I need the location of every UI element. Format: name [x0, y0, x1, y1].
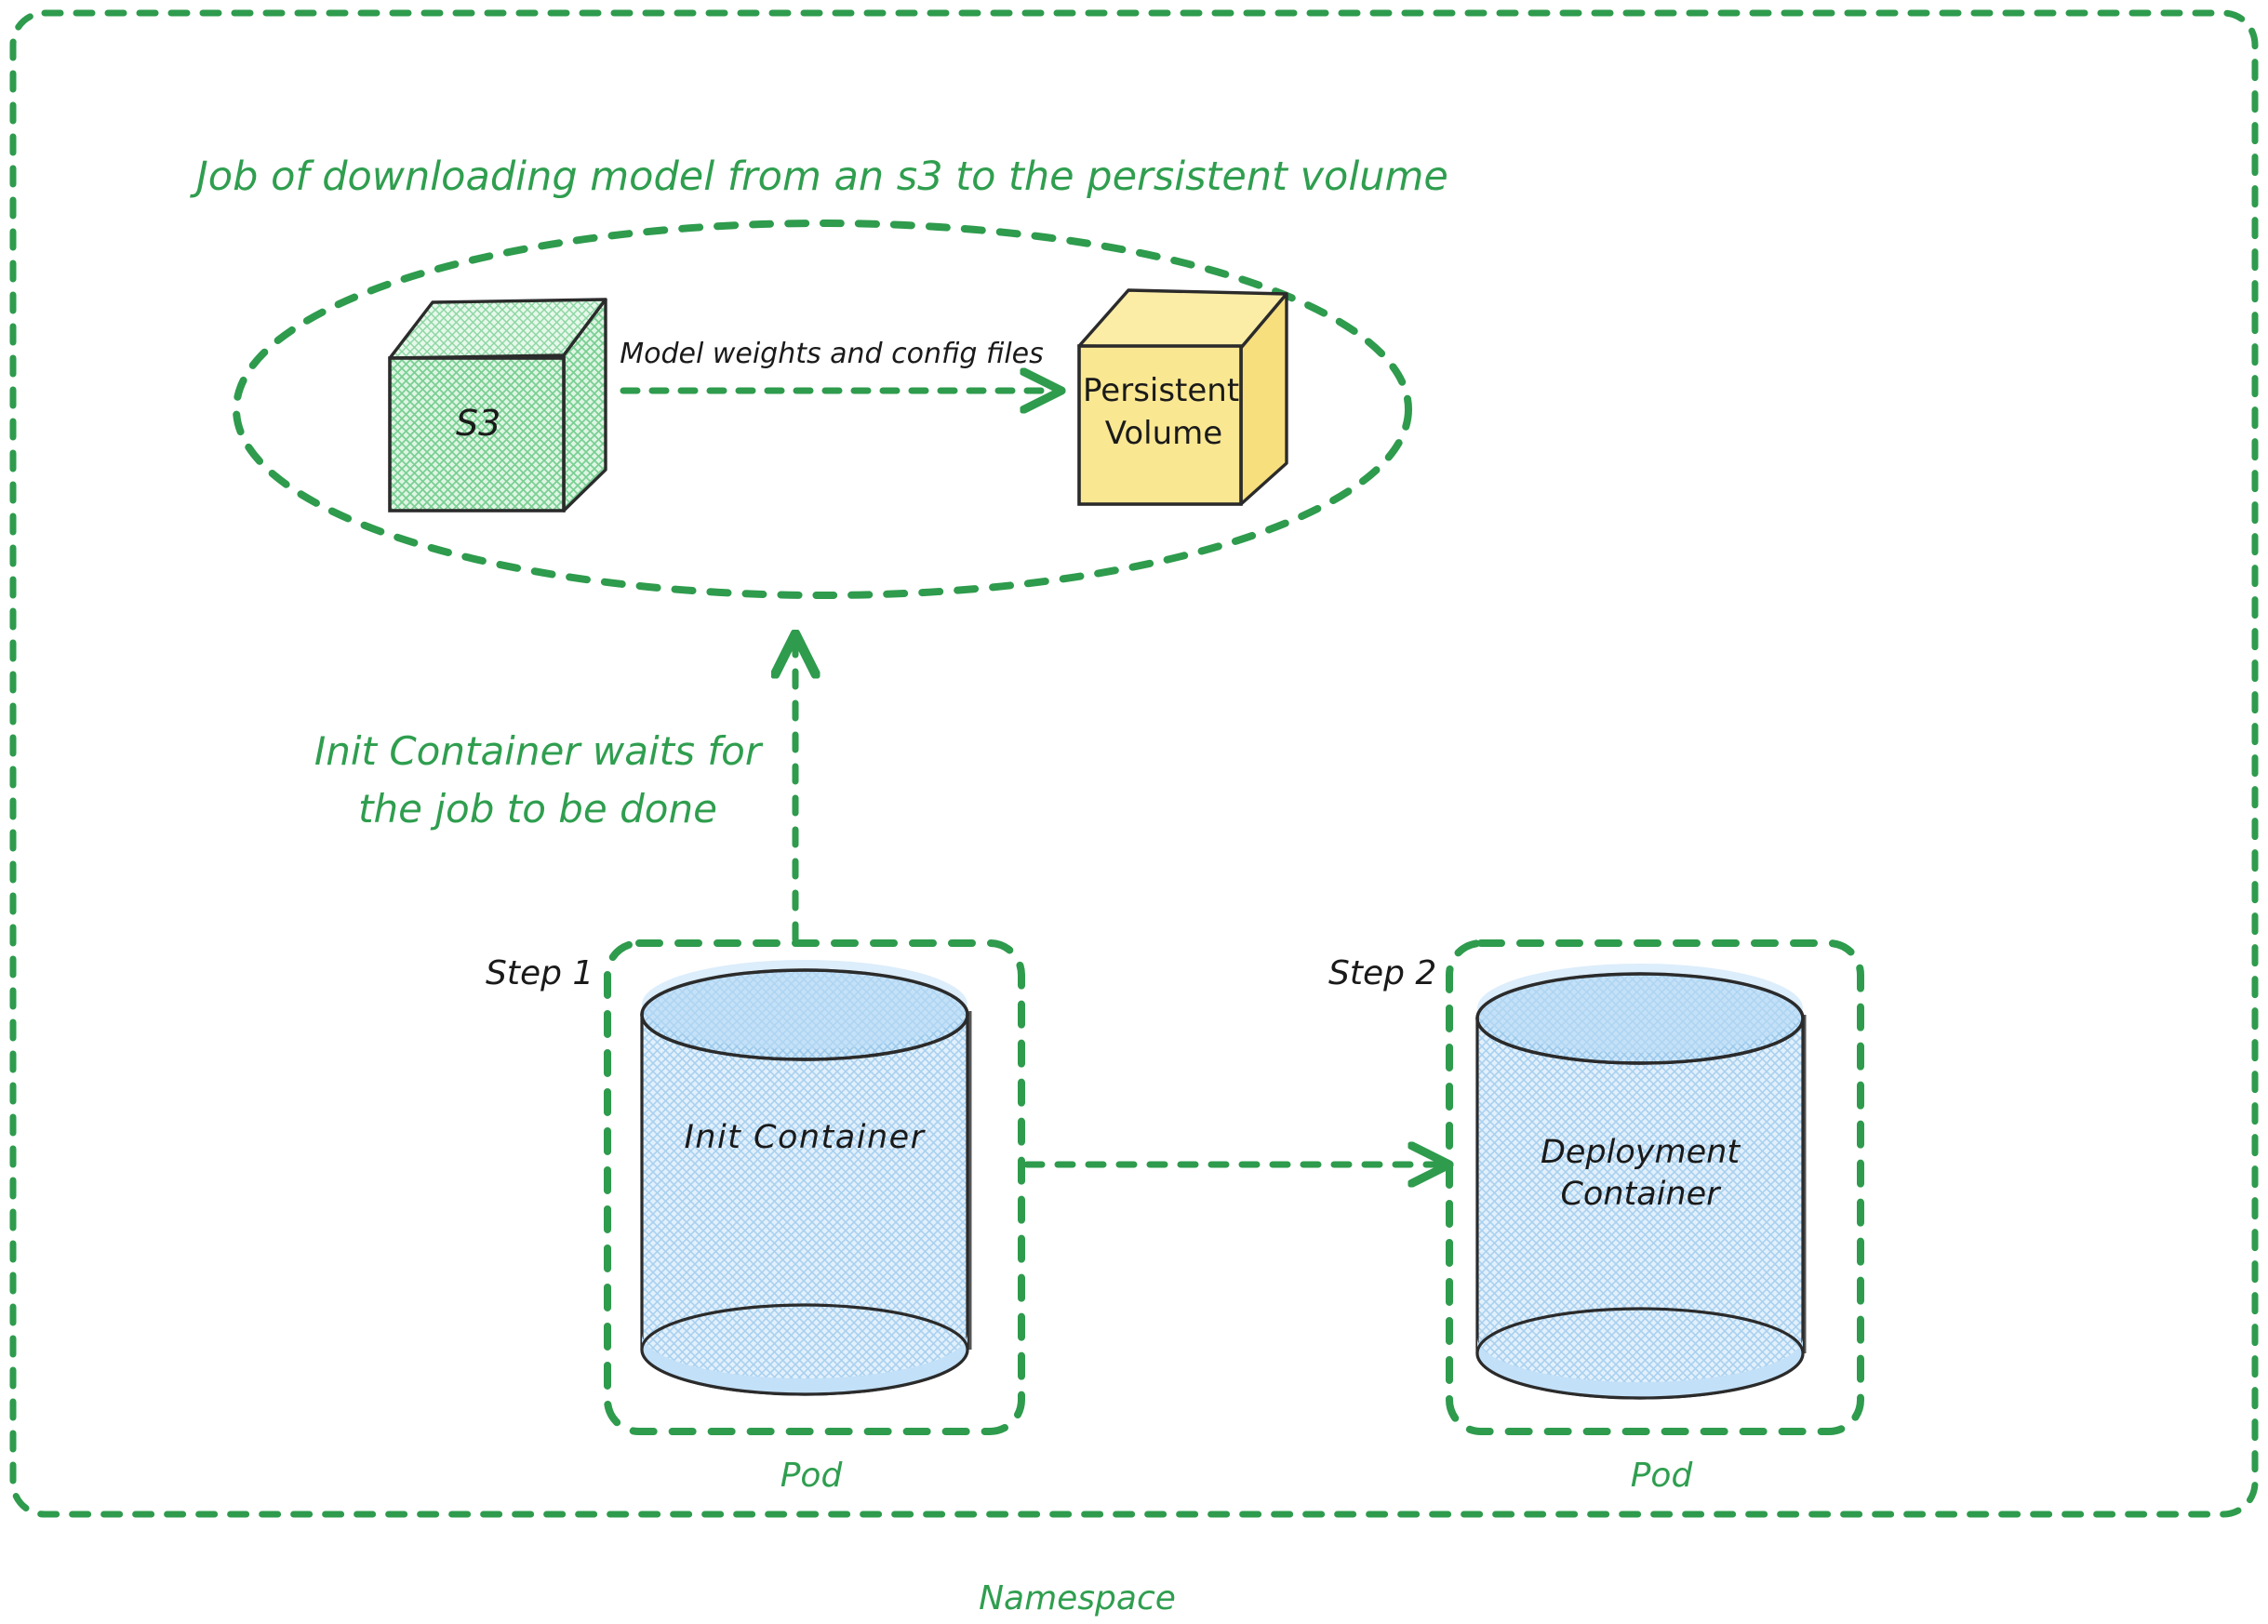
diagram-canvas: S3 Init Container — [0, 0, 2268, 1624]
s3-cube-label: S3 — [456, 403, 500, 444]
pod-2-label: Pod — [1631, 1457, 1694, 1495]
step-2-label: Step 2 — [1328, 954, 1436, 992]
deployment-container-cylinder-icon: Deployment Container — [1477, 964, 1805, 1398]
init-container-cylinder-label: Init Container — [684, 1119, 926, 1156]
job-title-label: Job of downloading model from an s3 to t… — [189, 153, 1448, 200]
init-wait-label-line1: Init Container waits for — [314, 728, 764, 774]
s3-cube-icon: S3 — [390, 300, 606, 511]
deployment-container-label-line2: Container — [1560, 1176, 1722, 1213]
persistent-volume-cube-icon — [1079, 290, 1287, 504]
deployment-container-label-line1: Deployment — [1541, 1134, 1741, 1171]
model-flow-arrow-label: Model weights and config files — [620, 338, 1044, 370]
pod-1-label: Pod — [780, 1457, 844, 1495]
init-wait-label-line2: the job to be done — [358, 786, 717, 832]
init-container-cylinder-icon: Init Container — [642, 960, 970, 1394]
diagram-svg: S3 Init Container — [0, 0, 2268, 1624]
step-1-label: Step 1 — [486, 954, 594, 992]
namespace-label: Namespace — [979, 1579, 1176, 1617]
